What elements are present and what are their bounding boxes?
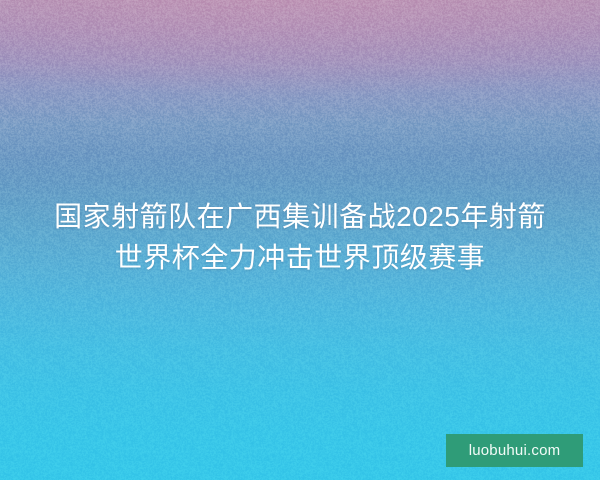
banner-image: 国家射箭队在广西集训备战2025年射箭 世界杯全力冲击世界顶级赛事 luobuh… bbox=[0, 0, 600, 480]
watermark-badge: luobuhui.com bbox=[446, 434, 583, 467]
watermark-label: luobuhui.com bbox=[469, 443, 561, 458]
headline-line-1: 国家射箭队在广西集训备战2025年射箭 bbox=[24, 196, 576, 237]
headline-line-2: 世界杯全力冲击世界顶级赛事 bbox=[24, 237, 576, 278]
page-title: 国家射箭队在广西集训备战2025年射箭 世界杯全力冲击世界顶级赛事 bbox=[0, 196, 600, 278]
